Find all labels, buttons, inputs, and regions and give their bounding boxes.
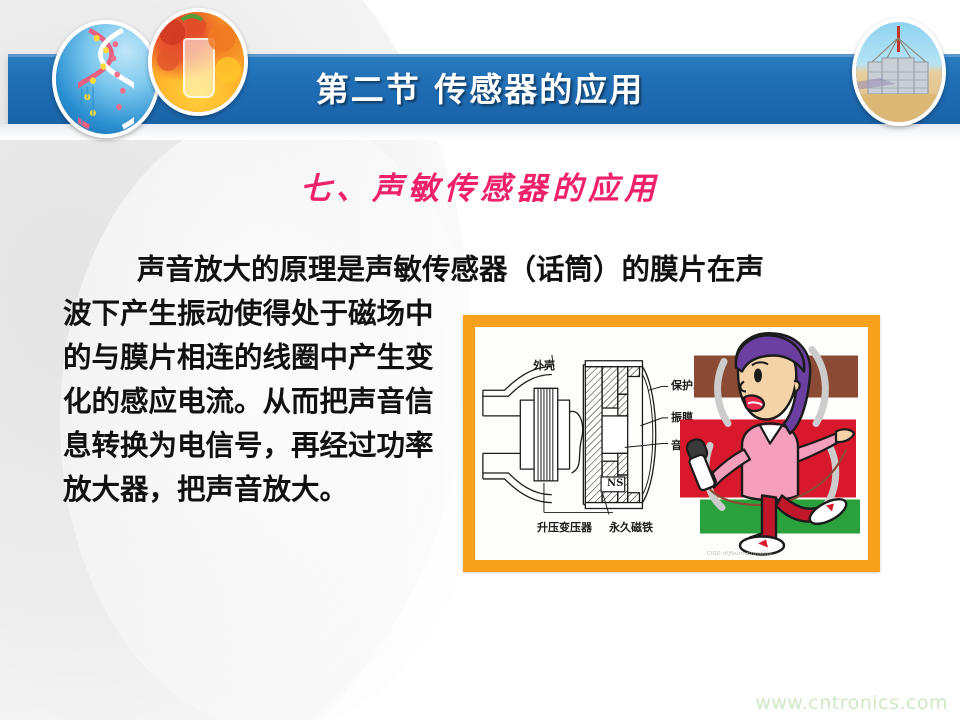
section-heading: 七、声敏传感器的应用: [0, 163, 960, 208]
dna-helix-icon: [78, 28, 134, 129]
body-line-rest: 波下产生振动使得处于磁场中的与膜片相连的线圈中产生变化的感应电流。从而把声音信息…: [63, 292, 453, 512]
slide-canvas: 第二节 传感器的应用: [0, 0, 960, 720]
label-permanent-magnet: 永久磁铁: [609, 519, 653, 535]
figure-frame: 外壳 保护罩 振膜 音圈 升压变压器 永久磁铁 NS: [463, 315, 880, 572]
grain-silo-photo-icon: [852, 18, 946, 126]
fruit-juice-photo-icon: [148, 8, 248, 116]
site-watermark: www.cntronics.com: [755, 692, 948, 714]
label-magnet-poles: NS: [607, 478, 623, 489]
figure-credit: CIGD dfjfkurmz/ronomg: [707, 551, 772, 557]
fruit-shapes-icon: [152, 12, 244, 112]
body-line-1: 声音放大的原理是声敏传感器（话筒）的膜片在声: [137, 253, 764, 286]
figure-canvas: 外壳 保护罩 振膜 音圈 升压变压器 永久磁铁 NS: [475, 327, 868, 560]
dna-research-photo-icon: [52, 20, 160, 138]
singer-with-microphone-illustration: [676, 327, 866, 558]
label-casing: 外壳: [533, 357, 555, 373]
silo-shapes-icon: [856, 22, 942, 122]
label-step-up-transformer: 升压变压器: [537, 519, 592, 535]
